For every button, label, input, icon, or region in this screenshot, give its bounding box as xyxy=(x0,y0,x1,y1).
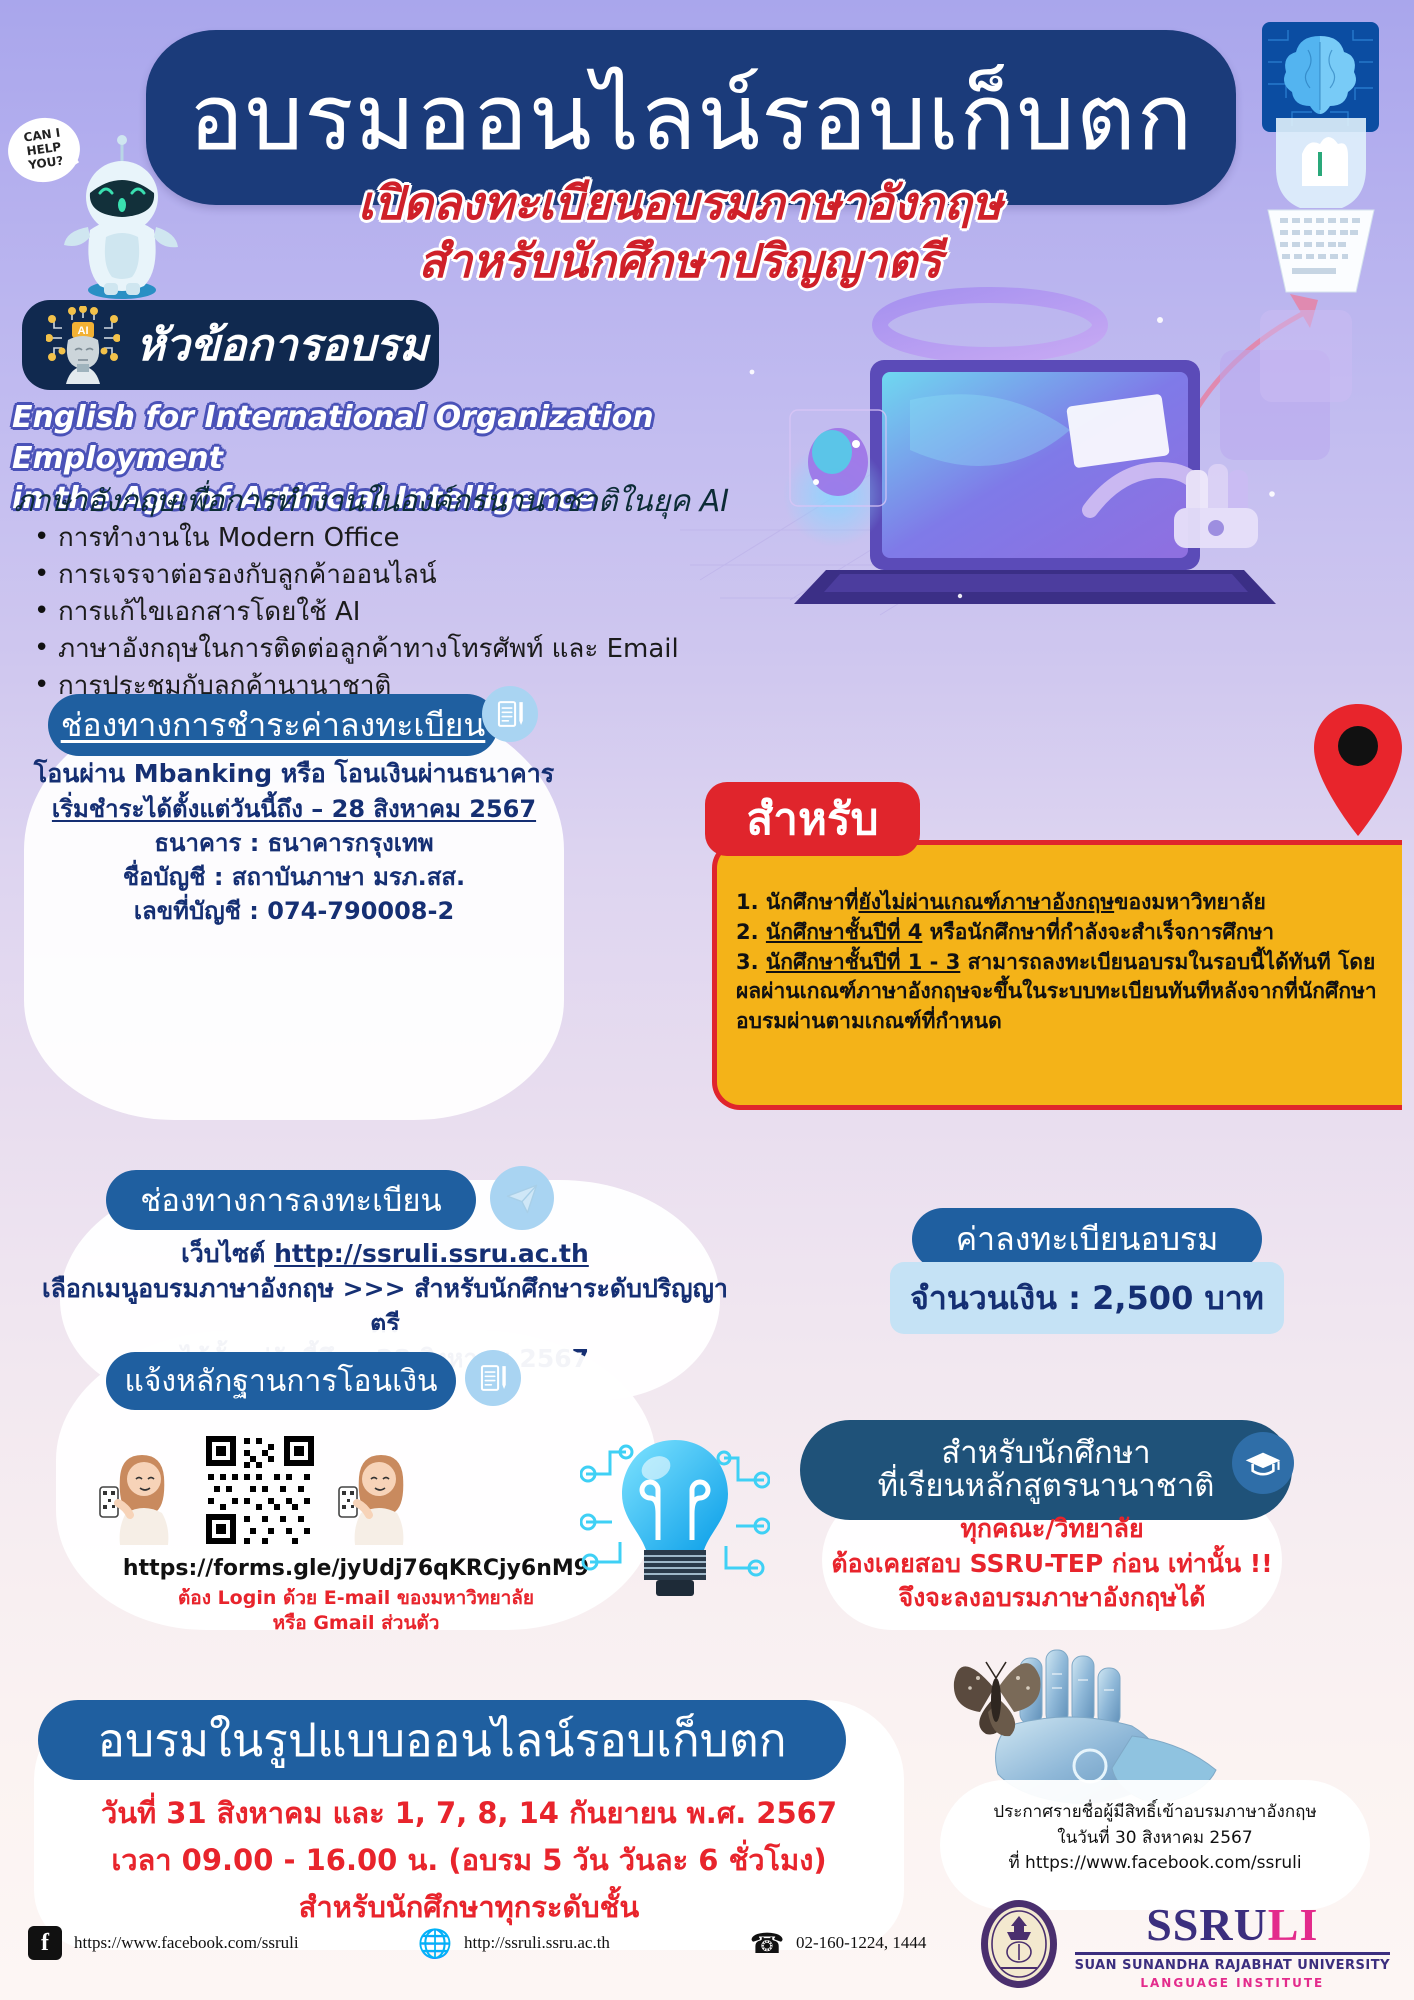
eligibility-tag: สำหรับ xyxy=(705,782,920,856)
registration-website-url[interactable]: http://ssruli.ssru.ac.th xyxy=(274,1239,589,1268)
university-seal-icon xyxy=(977,1898,1061,1990)
eligibility-item-2-suffix: หรือนักศึกษาที่กำลังจะสำเร็จการศึกษา xyxy=(922,920,1274,944)
payment-line-2: เริ่มชำระได้ตั้งแต่วันนี้ถึง – 28 สิงหาค… xyxy=(24,792,564,826)
ai-head-icon: AI xyxy=(46,306,120,384)
graduation-cap-glyph xyxy=(1244,1444,1282,1482)
facebook-icon: f xyxy=(28,1926,62,1960)
robot-mascot-icon xyxy=(60,135,185,310)
poster-root: อบรมออนไลน์รอบเก็บตก CAN I HELP YOU? xyxy=(0,0,1414,2000)
li-text: LI xyxy=(1268,1899,1319,1950)
map-pin-icon xyxy=(1310,700,1406,840)
footer-phone: ☎ 02-160-1224, 1444 xyxy=(750,1926,926,1960)
keyboard-hand-icon xyxy=(1258,118,1384,298)
main-title-text: อบรมออนไลน์รอบเก็บตก xyxy=(189,72,1194,164)
footer-facebook-url: https://www.facebook.com/ssruli xyxy=(74,1933,299,1953)
person-scanning-qr-right xyxy=(335,1435,427,1545)
footer-website-url: http://ssruli.ssru.ac.th xyxy=(464,1933,610,1953)
fee-amount-box: จำนวนเงิน : 2,500 บาท xyxy=(890,1262,1284,1334)
registration-line-1: เว็บไซต์ http://ssruli.ssru.ac.th xyxy=(40,1236,730,1271)
eligibility-item-1-suffix: ของมหาวิทยาลัย xyxy=(1114,890,1266,914)
schedule-heading-label: อบรมในรูปแบบออนไลน์รอบเก็บตก xyxy=(97,1704,786,1777)
eligibility-item-2: 2. นักศึกษาชั้นปีที่ 4 หรือนักศึกษาที่กำ… xyxy=(736,918,1386,948)
logo-divider xyxy=(1075,1952,1390,1955)
subtitle-block: เปิดลงทะเบียนอบรมภาษาอังกฤษ สำหรับนักศึก… xyxy=(250,175,1110,290)
payment-details: โอนผ่าน Mbanking หรือ โอนเงินผ่านธนาคาร … xyxy=(24,756,564,928)
footer-bar: f https://www.facebook.com/ssruli 🌐 http… xyxy=(0,1890,1414,2000)
ssruli-logo-block: SSRULI SUAN SUNANDHA RAJABHAT UNIVERSITY… xyxy=(977,1898,1390,1990)
fee-heading-pill: ค่าลงทะเบียนอบรม xyxy=(912,1208,1262,1270)
globe-icon: 🌐 xyxy=(418,1926,452,1960)
lightbulb-circuit-icon xyxy=(580,1422,770,1607)
transfer-heading-label: แจ้งหลักฐานการโอนเงิน xyxy=(125,1358,438,1405)
registration-heading-pill: ช่องทางการลงทะเบียน xyxy=(106,1170,476,1230)
payment-heading-pill: ช่องทางการชำระค่าลงทะเบียน xyxy=(48,694,498,756)
svg-text:AI: AI xyxy=(78,325,89,337)
payment-line-4: ชื่อบัญชี : สถาบันภาษา มรภ.สส. xyxy=(24,860,564,894)
eligibility-item-3-underlined: นักศึกษาชั้นปีที่ 1 - 3 xyxy=(766,950,960,974)
footer-phone-number: 02-160-1224, 1444 xyxy=(796,1933,926,1953)
thai-course-subtitle: ภาษาอังกฤษเพื่อการทำงานในองค์กรนานาชาติใ… xyxy=(14,478,729,525)
payment-heading-label: ช่องทางการชำระค่าลงทะเบียน xyxy=(61,700,486,751)
ssru-text: SSRU xyxy=(1146,1899,1268,1950)
international-heading-pill: สำหรับนักศึกษา ที่เรียนหลักสูตรนานาชาติ xyxy=(800,1420,1292,1520)
topic-item-list: การทำงานใน Modern Office การเจรจาต่อรองก… xyxy=(26,520,679,705)
fee-amount-label: จำนวนเงิน : 2,500 บาท xyxy=(910,1273,1264,1324)
topic-heading-pill: AI หัวข้อการอบรม xyxy=(22,300,439,390)
person-scanning-qr-left xyxy=(96,1435,188,1545)
announcement-line-2: ในวันที่ 30 สิงหาคม 2567 xyxy=(940,1826,1370,1852)
list-item: การทำงานใน Modern Office xyxy=(26,520,679,557)
eligibility-item-1: 1. นักศึกษาที่ยังไม่ผ่านเกณฑ์ภาษาอังกฤษข… xyxy=(736,888,1386,918)
list-item: ภาษาอังกฤษในการติดต่อลูกค้าทางโทรศัพท์ แ… xyxy=(26,631,679,668)
eligibility-item-3: 3. นักศึกษาชั้นปีที่ 1 - 3 สามารถลงทะเบี… xyxy=(736,948,1386,1037)
schedule-line-2: เวลา 09.00 - 16.00 น. (อบรม 5 วัน วันละ … xyxy=(34,1837,904,1884)
international-heading-line-1: สำหรับนักศึกษา xyxy=(941,1437,1150,1470)
announcement-line-1: ประกาศรายชื่อผู้มีสิทธิ์เข้าอบรมภาษาอังก… xyxy=(940,1800,1370,1826)
registration-website-label: เว็บไซต์ xyxy=(181,1239,274,1268)
eligibility-tag-label: สำหรับ xyxy=(746,784,878,854)
telegram-send-icon xyxy=(490,1166,554,1230)
transfer-document-icon xyxy=(465,1350,521,1406)
document-icon-glyph xyxy=(476,1361,510,1395)
eligibility-item-2-prefix: 2. xyxy=(736,920,766,944)
form-note-line-2: หรือ Gmail ส่วนตัว xyxy=(56,1611,656,1636)
announcement-details: ประกาศรายชื่อผู้มีสิทธิ์เข้าอบรมภาษาอังก… xyxy=(940,1800,1370,1877)
document-icon-glyph xyxy=(493,697,527,731)
payment-line-5: เลขที่บัญชี : 074-790008-2 xyxy=(24,894,564,928)
google-form-url[interactable]: https://forms.gle/jyUdj76qKRCjy6nM9 xyxy=(56,1556,656,1581)
schedule-line-1: วันที่ 31 สิงหาคม และ 1, 7, 8, 14 กันยาย… xyxy=(34,1790,904,1837)
list-item: การเจรจาต่อรองกับลูกค้าออนไลน์ xyxy=(26,557,679,594)
payment-line-3: ธนาคาร : ธนาคารกรุงเทพ xyxy=(24,826,564,860)
announcement-line-3: ที่ https://www.facebook.com/ssruli xyxy=(940,1851,1370,1877)
laptop-ai-illustration xyxy=(660,280,1400,620)
transfer-heading-pill: แจ้งหลักฐานการโอนเงิน xyxy=(106,1352,456,1410)
english-title-line-1: English for International Organization E… xyxy=(12,398,732,479)
ssruli-title: SSRULI xyxy=(1075,1898,1390,1951)
eligibility-item-2-underlined: นักศึกษาชั้นปีที่ 4 xyxy=(766,920,922,944)
topic-heading-label: หัวข้อการอบรม xyxy=(136,310,428,380)
international-line-1: ทุกคณะ/วิทยาลัย xyxy=(822,1512,1282,1547)
eligibility-item-1-prefix: 1. นักศึกษาที่ xyxy=(736,890,859,914)
graduation-cap-icon xyxy=(1232,1432,1294,1494)
list-item: การแก้ไขเอกสารโดยใช้ AI xyxy=(26,594,679,631)
institute-name: LANGUAGE INSTITUTE xyxy=(1075,1976,1390,1990)
brain-circuit-icon xyxy=(1262,22,1379,132)
subtitle-line-1: เปิดลงทะเบียนอบรมภาษาอังกฤษ xyxy=(250,175,1110,233)
eligibility-item-1-underlined: ยังไม่ผ่านเกณฑ์ภาษาอังกฤษ xyxy=(859,890,1115,914)
schedule-heading-pill: อบรมในรูปแบบออนไลน์รอบเก็บตก xyxy=(38,1700,846,1780)
footer-facebook[interactable]: f https://www.facebook.com/ssruli xyxy=(28,1926,299,1960)
qr-code[interactable] xyxy=(200,1430,320,1550)
eligibility-item-3-prefix: 3. xyxy=(736,950,766,974)
document-pen-icon xyxy=(482,686,538,742)
international-line-3: จึงจะลงอบรมภาษาอังกฤษได้ xyxy=(822,1581,1282,1616)
ssruli-wordmark: SSRULI SUAN SUNANDHA RAJABHAT UNIVERSITY… xyxy=(1075,1898,1390,1990)
payment-line-1: โอนผ่าน Mbanking หรือ โอนเงินผ่านธนาคาร xyxy=(24,756,564,792)
brain-chip-card xyxy=(1262,22,1379,132)
registration-heading-label: ช่องทางการลงทะเบียน xyxy=(140,1175,441,1225)
international-heading-line-2: ที่เรียนหลักสูตรนานาชาติ xyxy=(878,1470,1215,1503)
paper-plane-glyph xyxy=(502,1178,542,1218)
footer-website[interactable]: 🌐 http://ssruli.ssru.ac.th xyxy=(418,1926,610,1960)
international-line-2: ต้องเคยสอบ SSRU-TEP ก่อน เท่านั้น !! xyxy=(822,1547,1282,1582)
google-form-note: ต้อง Login ด้วย E-mail ของมหาวิทยาลัย หร… xyxy=(56,1586,656,1635)
international-details: ทุกคณะ/วิทยาลัย ต้องเคยสอบ SSRU-TEP ก่อน… xyxy=(822,1512,1282,1616)
eligibility-list: 1. นักศึกษาที่ยังไม่ผ่านเกณฑ์ภาษาอังกฤษข… xyxy=(736,888,1386,1037)
fee-heading-label: ค่าลงทะเบียนอบรม xyxy=(956,1214,1219,1265)
form-note-line-1: ต้อง Login ด้วย E-mail ของมหาวิทยาลัย xyxy=(56,1586,656,1611)
phone-icon: ☎ xyxy=(750,1926,784,1960)
university-name: SUAN SUNANDHA RAJABHAT UNIVERSITY xyxy=(1075,1958,1390,1973)
